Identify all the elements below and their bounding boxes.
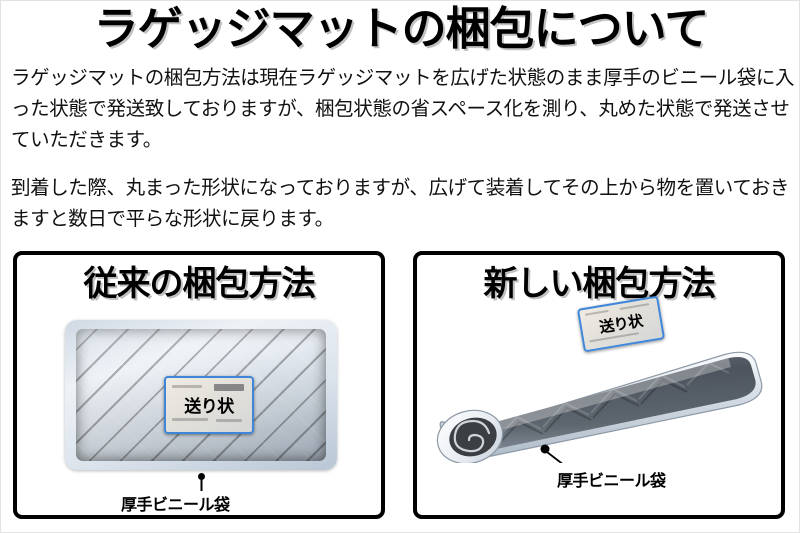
- panel-new-packing: 新しい梱包方法: [413, 251, 785, 519]
- panel-heading-new: 新しい梱包方法: [417, 263, 781, 305]
- shipping-label-flat: 送り状: [164, 376, 254, 434]
- label-print-line: [216, 419, 242, 422]
- label-print-block: [214, 384, 244, 391]
- intro-paragraph-1: ラゲッジマットの梱包方法は現在ラゲッジマットを広げた状態のまま厚手のビニール袋に…: [11, 63, 795, 156]
- shipping-label-text: 送り状: [166, 392, 252, 417]
- vinyl-bag-flat: 送り状: [65, 320, 337, 470]
- callout-dot-conventional: [198, 473, 205, 480]
- label-print-line: [172, 385, 202, 388]
- label-print-line: [172, 418, 208, 421]
- paragraph-text: 到着した際、丸まった形状になっておりますが、広げて装着してその上から物を置いてお…: [11, 173, 795, 235]
- infographic-canvas: ラゲッジマットの梱包について ラゲッジマットの梱包方法は現在ラゲッジマットを広げ…: [0, 0, 800, 533]
- caption-conventional-bag: 厚手ビニール袋: [121, 491, 230, 515]
- panel-conventional-packing: 従来の梱包方法 送り状 厚手ビニール袋: [13, 251, 385, 519]
- luggage-mat-flat: 送り状: [76, 329, 326, 461]
- leader-line-new: [547, 452, 621, 463]
- panel-heading-conventional: 従来の梱包方法: [17, 263, 381, 305]
- paragraph-text: ラゲッジマットの梱包方法は現在ラゲッジマットを広げた状態のまま厚手のビニール袋に…: [11, 63, 795, 156]
- intro-paragraph-2: 到着した際、丸まった形状になっておりますが、広げて装着してその上から物を置いてお…: [11, 173, 795, 235]
- caption-new-bag: 厚手ビニール袋: [557, 467, 666, 491]
- page-title: ラゲッジマットの梱包について: [1, 3, 800, 55]
